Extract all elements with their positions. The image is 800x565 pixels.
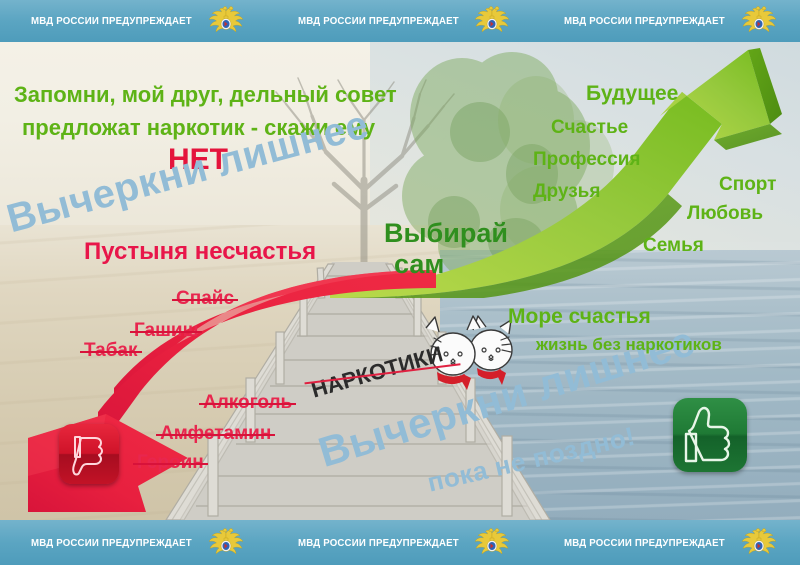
good-item-future: Будущее — [586, 82, 678, 106]
banner-text: МВД РОССИИ ПРЕДУПРЕЖДАЕТ — [564, 15, 725, 27]
double-headed-eagle-icon — [209, 528, 243, 558]
banner-unit: МВД РОССИИ ПРЕДУПРЕЖДАЕТ — [267, 6, 534, 36]
banner-unit: МВД РОССИИ ПРЕДУПРЕЖДАЕТ — [267, 528, 534, 558]
banner-unit: МВД РОССИИ ПРЕДУПРЕЖДАЕТ — [533, 528, 800, 558]
double-headed-eagle-icon — [209, 6, 243, 36]
banner-unit: МВД РОССИИ ПРЕДУПРЕЖДАЕТ — [0, 528, 267, 558]
bad-item-hashish: Гашиш — [134, 320, 198, 342]
bad-item-spice: Спайс — [176, 288, 234, 310]
double-headed-eagle-icon — [742, 6, 776, 36]
banner-text: МВД РОССИИ ПРЕДУПРЕЖДАЕТ — [298, 15, 459, 27]
banner-text: МВД РОССИИ ПРЕДУПРЕЖДАЕТ — [31, 537, 192, 549]
double-headed-eagle-icon — [475, 6, 509, 36]
banner-unit: МВД РОССИИ ПРЕДУПРЕЖДАЕТ — [0, 6, 267, 36]
good-item-love: Любовь — [687, 203, 763, 225]
headline-line-1: Запомни, мой друг, дельный совет — [14, 82, 397, 107]
banner-unit: МВД РОССИИ ПРЕДУПРЕЖДАЕТ — [533, 6, 800, 36]
good-item-family: Семья — [643, 235, 704, 257]
sea-of-happiness-label: Море счастья жизнь без наркотиков — [508, 303, 722, 359]
sea-line-1: Море счастья — [508, 305, 651, 328]
bad-item-heroin: Героин — [137, 452, 204, 474]
bad-item-tobacco: Табак — [84, 340, 138, 362]
banner-text: МВД РОССИИ ПРЕДУПРЕЖДАЕТ — [564, 537, 725, 549]
double-headed-eagle-icon — [742, 528, 776, 558]
desert-of-unhappiness-label: Пустыня несчастья — [84, 238, 316, 266]
bad-item-amphetamine: Амфетамин — [160, 423, 271, 445]
poster: МВД РОССИИ ПРЕДУПРЕЖДАЕТ МВД РОССИИ ПРЕД… — [0, 0, 800, 565]
double-headed-eagle-icon — [475, 528, 509, 558]
sea-line-2: жизнь без наркотиков — [508, 331, 722, 359]
good-item-sport: Спорт — [719, 174, 776, 196]
banner-text: МВД РОССИИ ПРЕДУПРЕЖДАЕТ — [31, 15, 192, 27]
good-item-friends: Друзья — [533, 181, 600, 203]
choose-line-1: Выбирай — [384, 218, 508, 248]
banner-bottom: МВД РОССИИ ПРЕДУПРЕЖДАЕТ МВД РОССИИ ПРЕД… — [0, 520, 800, 565]
thumbs-down-icon — [59, 424, 119, 484]
good-item-happiness: Счастье — [551, 117, 628, 139]
thumbs-up-icon — [673, 398, 747, 472]
bad-item-alcohol: Алкоголь — [203, 392, 292, 414]
banner-top: МВД РОССИИ ПРЕДУПРЕЖДАЕТ МВД РОССИИ ПРЕД… — [0, 0, 800, 42]
good-item-profession: Профессия — [533, 149, 640, 171]
banner-text: МВД РОССИИ ПРЕДУПРЕЖДАЕТ — [298, 537, 459, 549]
choose-yourself-label: Выбирай сам — [384, 218, 508, 280]
choose-line-2: сам — [384, 249, 508, 280]
